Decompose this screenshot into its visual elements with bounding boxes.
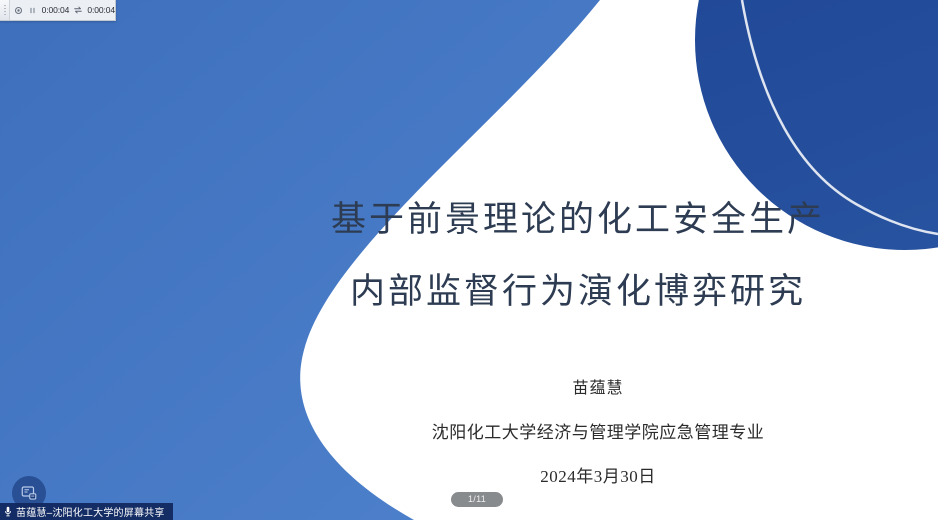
swap-arrows-icon-button[interactable] (73, 5, 83, 16)
swap-arrows-icon (73, 5, 83, 15)
record-dot-icon (14, 6, 23, 15)
pause-icon-button[interactable] (27, 3, 38, 17)
share-status-label: 苗蕴慧–沈阳化工大学的屏幕共享 (16, 504, 165, 519)
toolbar-drag-handle[interactable] (0, 0, 10, 20)
microphone-glyph (4, 506, 12, 517)
presentation-share-icon (20, 484, 38, 502)
shared-slide: 基于前景理论的化工安全生产 内部监督行为演化博弈研究 苗蕴慧 沈阳化工大学经济与… (0, 0, 938, 520)
recording-toolbar[interactable]: 0:00:04 0:00:04 (0, 0, 116, 21)
total-time-label: 0:00:04 (87, 5, 115, 15)
pause-icon (28, 6, 37, 15)
elapsed-time-label: 0:00:04 (42, 5, 70, 15)
screen-share-viewer: 基于前景理论的化工安全生产 内部监督行为演化博弈研究 苗蕴慧 沈阳化工大学经济与… (0, 0, 938, 520)
record-dot-icon-button[interactable] (13, 3, 24, 17)
page-indicator: 1/11 (451, 492, 503, 507)
microphone-icon (4, 506, 12, 517)
share-status-bar: 苗蕴慧–沈阳化工大学的屏幕共享 (0, 503, 173, 520)
slide-background-graphic (0, 0, 938, 520)
